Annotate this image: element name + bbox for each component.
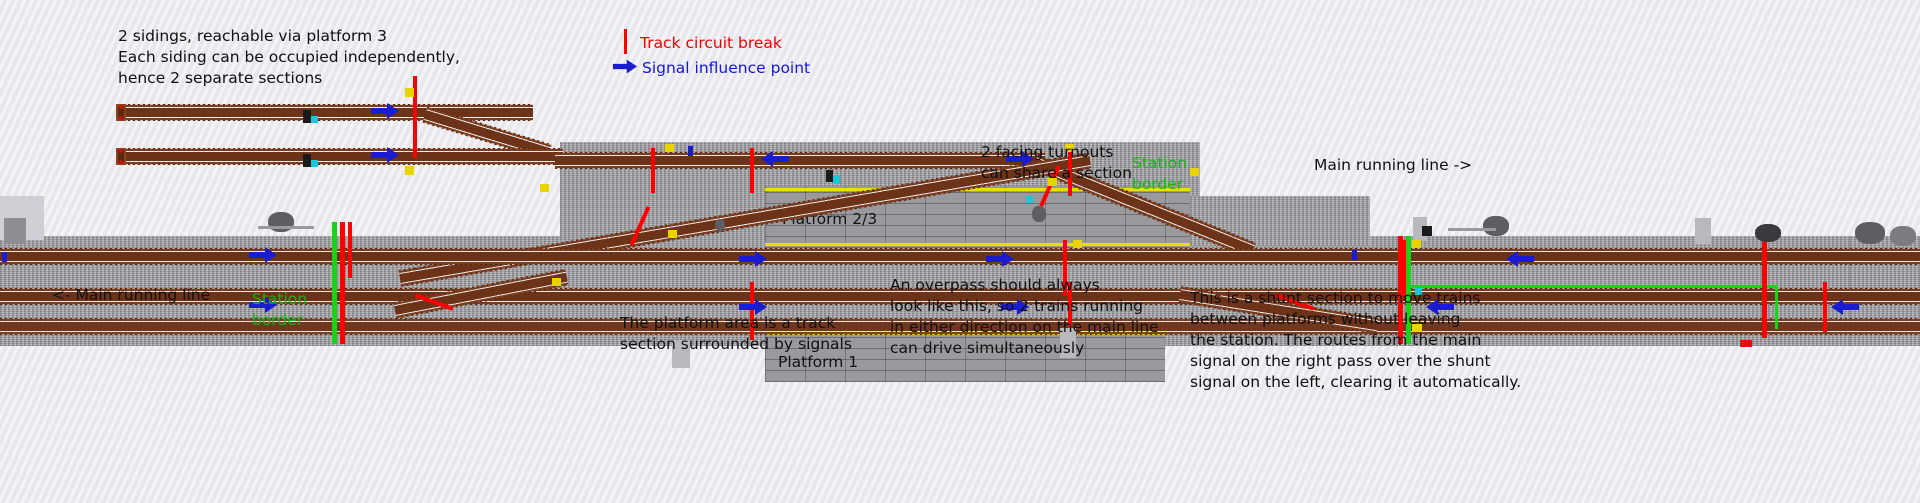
legend-track-circuit-break-symbol bbox=[624, 29, 627, 54]
annotation-platform-area: The platform area is a track section sur… bbox=[620, 313, 852, 355]
legend-signal-influence-point-symbol bbox=[612, 57, 638, 76]
signal-head-marker bbox=[1026, 196, 1033, 203]
platform-1-label: Platform 1 bbox=[778, 353, 858, 371]
track-marker bbox=[1352, 250, 1357, 260]
station-border-marker-left-green[interactable] bbox=[332, 222, 337, 344]
legend-signal-influence-point-label: Signal influence point bbox=[642, 58, 810, 79]
track-siding-2 bbox=[118, 148, 563, 165]
track-circuit-break[interactable] bbox=[750, 148, 754, 193]
signal-influence-point-icon[interactable] bbox=[370, 144, 400, 166]
shunt-signal-right[interactable] bbox=[1762, 238, 1767, 338]
balise-marker bbox=[405, 166, 414, 175]
signal-head-marker bbox=[311, 116, 318, 123]
station-border-marker-left-red[interactable] bbox=[340, 222, 345, 344]
signal-influence-point-icon[interactable] bbox=[1830, 296, 1860, 318]
scenery-rock bbox=[715, 219, 725, 231]
annotation-shunt-section: This is a shunt section to move trains b… bbox=[1190, 288, 1521, 393]
balise-marker bbox=[665, 144, 674, 152]
track-siding-1 bbox=[118, 104, 533, 121]
buffer-light-top bbox=[119, 149, 123, 153]
annotation-main-line-right: Main running line -> bbox=[1314, 155, 1472, 176]
shunt-section-bracket-left bbox=[1406, 236, 1409, 288]
balise-marker bbox=[405, 88, 414, 97]
annotation-overpass: An overpass should always look like this… bbox=[890, 275, 1159, 359]
balise-marker bbox=[1412, 240, 1421, 248]
balise-marker bbox=[1190, 168, 1199, 176]
annotation-station-border-left: Station border bbox=[252, 289, 307, 331]
track-platform-2-3-road bbox=[555, 152, 1045, 169]
annotation-station-border-right: Station border bbox=[1132, 153, 1187, 195]
track-circuit-break[interactable] bbox=[651, 148, 655, 193]
signal-post-marker bbox=[1422, 226, 1432, 236]
balise-marker bbox=[540, 184, 549, 192]
scenery-marker-post bbox=[1695, 218, 1711, 244]
scenery-pole bbox=[1448, 228, 1496, 231]
legend-track-circuit-break-label: Track circuit break bbox=[640, 33, 782, 54]
track-marker bbox=[688, 146, 693, 156]
signal-post-marker bbox=[826, 170, 833, 182]
shunt-section-bracket-right bbox=[1775, 285, 1778, 329]
scenery-rock bbox=[1755, 224, 1781, 242]
signal-post-marker bbox=[303, 154, 311, 167]
annotation-main-line-left: <- Main running line bbox=[52, 285, 210, 306]
scenery-pole bbox=[258, 226, 314, 229]
signal-influence-point-icon[interactable] bbox=[370, 100, 400, 122]
buffer-stop-siding-1 bbox=[116, 104, 126, 121]
balise-marker bbox=[1073, 240, 1082, 248]
signal-influence-point-icon[interactable] bbox=[760, 148, 790, 170]
shunt-marker-yellow bbox=[1740, 340, 1752, 347]
track-marker bbox=[2, 252, 7, 262]
scenery-rock bbox=[268, 212, 294, 232]
track-main-line-upper bbox=[0, 248, 1920, 265]
balise-marker bbox=[668, 230, 677, 238]
railway-signalling-diagram: Platform 2/3 Platform 1 bbox=[0, 0, 1920, 503]
scenery-rock bbox=[1032, 206, 1046, 222]
balise-marker bbox=[552, 278, 561, 286]
buffer-stop-siding-2 bbox=[116, 148, 126, 165]
scenery-rock bbox=[1890, 226, 1916, 246]
signal-head-marker bbox=[833, 175, 840, 184]
signal-influence-point-icon[interactable] bbox=[248, 244, 278, 266]
annotation-facing-turnouts: 2 facing turnouts can share a section bbox=[981, 142, 1132, 184]
signal-influence-point-icon[interactable] bbox=[985, 248, 1015, 270]
platform-2-3-edge-bottom bbox=[765, 243, 1190, 246]
buffer-light-bottom bbox=[119, 116, 123, 120]
signal-influence-point-icon[interactable] bbox=[1505, 248, 1535, 270]
scenery-rock bbox=[1483, 216, 1509, 236]
signal-influence-point-icon[interactable] bbox=[738, 248, 768, 270]
annotation-sidings: 2 sidings, reachable via platform 3 Each… bbox=[118, 26, 460, 89]
scenery-marker-post bbox=[4, 218, 26, 244]
scenery-rock bbox=[1855, 222, 1885, 244]
buffer-light-bottom bbox=[119, 160, 123, 164]
track-circuit-break[interactable] bbox=[1823, 282, 1827, 332]
signal-head-marker bbox=[311, 160, 318, 167]
signal-post-marker bbox=[303, 110, 311, 123]
track-circuit-break[interactable] bbox=[348, 222, 352, 278]
buffer-light-top bbox=[119, 105, 123, 109]
